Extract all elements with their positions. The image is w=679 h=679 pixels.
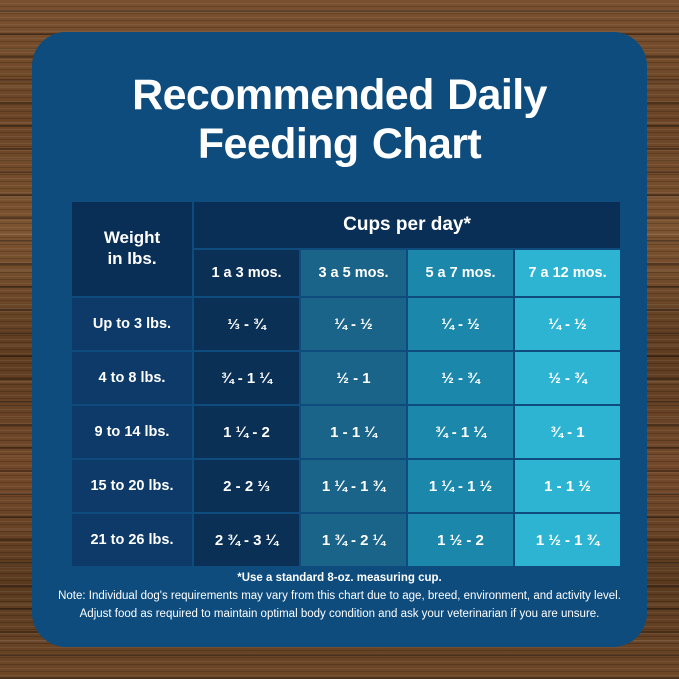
row-weight-label: 4 to 8 lbs. <box>72 352 192 404</box>
footnotes: *Use a standard 8-oz. measuring cup. Not… <box>54 570 625 623</box>
header-age-1-a-3-mos: 1 a 3 mos. <box>194 250 299 296</box>
cell-amount: ½ - ¾ <box>408 352 513 404</box>
poster-background: Recommended Daily Feeding Chart Weight i… <box>0 0 679 679</box>
header-age-7-a-12-mos: 7 a 12 mos. <box>515 250 620 296</box>
cell-amount: ½ - ¾ <box>515 352 620 404</box>
header-weight: Weight in lbs. <box>72 202 192 296</box>
table-row: 15 to 20 lbs. 2 - 2 ⅓ 1 ¼ - 1 ¾ 1 ¼ - 1 … <box>72 460 620 512</box>
cell-amount: 1 - 1 ½ <box>515 460 620 512</box>
feeding-chart-card: Recommended Daily Feeding Chart Weight i… <box>32 32 647 647</box>
row-weight-label: 9 to 14 lbs. <box>72 406 192 458</box>
footnote-measuring-cup: *Use a standard 8-oz. measuring cup. <box>54 570 625 588</box>
row-weight-label: 21 to 26 lbs. <box>72 514 192 566</box>
table-row: 4 to 8 lbs. ¾ - 1 ¼ ½ - 1 ½ - ¾ ½ - ¾ <box>72 352 620 404</box>
page-title-line-2: Feeding Chart <box>92 120 587 169</box>
cell-amount: 1 ½ - 2 <box>408 514 513 566</box>
feeding-table: Weight in lbs. Cups per day* 1 a 3 mos. … <box>70 200 622 568</box>
cell-amount: ⅓ - ¾ <box>194 298 299 350</box>
cell-amount: 1 ¼ - 2 <box>194 406 299 458</box>
cell-amount: 1 ¼ - 1 ¾ <box>301 460 406 512</box>
table-header: Weight in lbs. Cups per day* 1 a 3 mos. … <box>72 202 620 296</box>
feeding-table-container: Weight in lbs. Cups per day* 1 a 3 mos. … <box>70 200 610 568</box>
page-title: Recommended Daily Feeding Chart <box>32 32 647 168</box>
table-body: Up to 3 lbs. ⅓ - ¾ ¼ - ½ ¼ - ½ ¼ - ½ 4 t… <box>72 298 620 566</box>
table-row: 9 to 14 lbs. 1 ¼ - 2 1 - 1 ¼ ¾ - 1 ¼ ¾ -… <box>72 406 620 458</box>
cell-amount: 1 ¾ - 2 ¼ <box>301 514 406 566</box>
cell-amount: 2 ¾ - 3 ¼ <box>194 514 299 566</box>
header-cups-per-day: Cups per day* <box>194 202 620 248</box>
cell-amount: 1 ¼ - 1 ½ <box>408 460 513 512</box>
cell-amount: ¼ - ½ <box>408 298 513 350</box>
table-header-row-primary: Weight in lbs. Cups per day* <box>72 202 620 248</box>
cell-amount: ¾ - 1 ¼ <box>408 406 513 458</box>
cell-amount: ¼ - ½ <box>301 298 406 350</box>
cell-amount: 1 ½ - 1 ¾ <box>515 514 620 566</box>
footnote-adjust: Adjust food as required to maintain opti… <box>54 606 625 624</box>
footnote-note: Note: Individual dog's requirements may … <box>54 588 625 606</box>
header-weight-line-1: Weight <box>104 228 160 247</box>
cell-amount: ¾ - 1 ¼ <box>194 352 299 404</box>
cell-amount: 2 - 2 ⅓ <box>194 460 299 512</box>
row-weight-label: 15 to 20 lbs. <box>72 460 192 512</box>
header-age-3-a-5-mos: 3 a 5 mos. <box>301 250 406 296</box>
cell-amount: ½ - 1 <box>301 352 406 404</box>
table-row: 21 to 26 lbs. 2 ¾ - 3 ¼ 1 ¾ - 2 ¼ 1 ½ - … <box>72 514 620 566</box>
header-age-5-a-7-mos: 5 a 7 mos. <box>408 250 513 296</box>
cell-amount: ¾ - 1 <box>515 406 620 458</box>
cell-amount: ¼ - ½ <box>515 298 620 350</box>
header-weight-line-2: in lbs. <box>107 249 156 268</box>
table-row: Up to 3 lbs. ⅓ - ¾ ¼ - ½ ¼ - ½ ¼ - ½ <box>72 298 620 350</box>
row-weight-label: Up to 3 lbs. <box>72 298 192 350</box>
cell-amount: 1 - 1 ¼ <box>301 406 406 458</box>
page-title-line-1: Recommended Daily <box>92 71 587 120</box>
